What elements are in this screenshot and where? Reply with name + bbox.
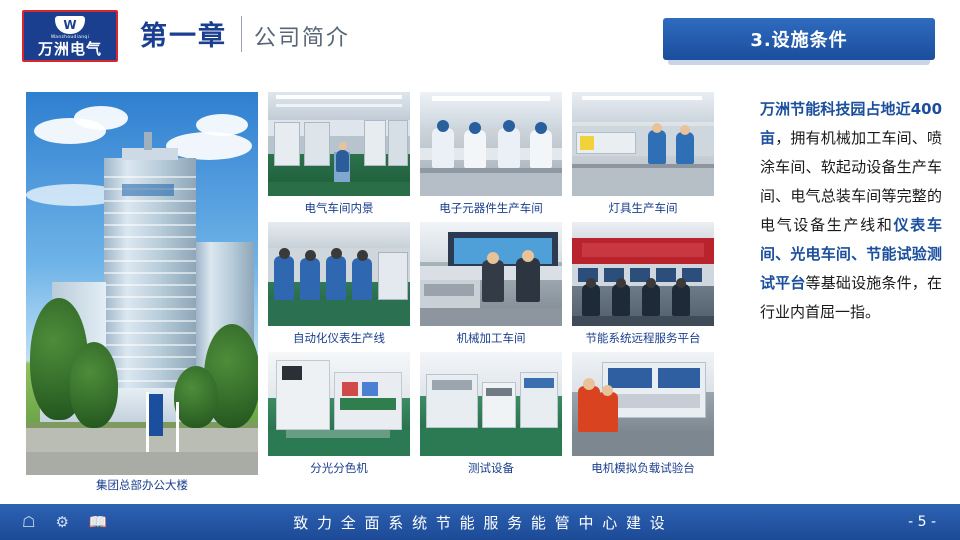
lamp-production-illustration (572, 92, 714, 196)
caption-machining-workshop: 机械加工车间 (420, 330, 562, 346)
photo-electrical-workshop-interior (268, 92, 410, 196)
logo-brand-text: 万洲电气 (38, 42, 102, 57)
color-sorting-machine-illustration (268, 352, 410, 456)
photo-color-sorting-machine (268, 352, 410, 456)
photo-automatic-meter-line (268, 222, 410, 326)
section-tab[interactable]: 3.设施条件 (663, 18, 935, 60)
logo-pinyin: Wanzhoudianqi (51, 35, 89, 40)
caption-energy-saving-remote-service-platform: 节能系统远程服务平台 (572, 330, 714, 346)
photo-machining-workshop (420, 222, 562, 326)
header-divider (241, 16, 242, 52)
chapter-subtitle: 公司简介 (254, 20, 350, 52)
section-tab-label: 3.设施条件 (750, 26, 847, 52)
caption-headquarters-building: 集团总部办公大楼 (26, 477, 258, 493)
automatic-meter-line-illustration (268, 222, 410, 326)
photo-testing-equipment (420, 352, 562, 456)
testing-equipment-illustration (420, 352, 562, 456)
logo-emblem-glyph: W (63, 19, 76, 31)
machining-workshop-illustration (420, 222, 562, 326)
photo-motor-simulated-load-test-bench (572, 352, 714, 456)
footer-slogan: 致 力 全 面 系 统 节 能 服 务 能 管 中 心 建 设 (0, 512, 960, 533)
caption-electrical-workshop-interior: 电气车间内景 (268, 200, 410, 216)
headquarters-building-illustration (26, 92, 258, 475)
electrical-workshop-illustration (268, 92, 410, 196)
photo-headquarters-building (26, 92, 258, 475)
company-logo: W Wanzhoudianqi 万洲电气 (22, 10, 118, 62)
photo-electronic-components-workshop (420, 92, 562, 196)
page-number: - 5 - (908, 514, 936, 530)
caption-motor-simulated-load-test-bench: 电机模拟负载试验台 (572, 460, 714, 476)
caption-testing-equipment: 测试设备 (420, 460, 562, 476)
photo-lamp-production-workshop (572, 92, 714, 196)
remote-service-platform-illustration (572, 222, 714, 326)
caption-electronic-components-workshop: 电子元器件生产车间 (420, 200, 562, 216)
caption-lamp-production-workshop: 灯具生产车间 (572, 200, 714, 216)
chapter-title: 第一章 (140, 14, 227, 53)
caption-color-sorting-machine: 分光分色机 (268, 460, 410, 476)
slide: W Wanzhoudianqi 万洲电气 第一章 公司简介 3.设施条件 (0, 0, 960, 540)
electronic-components-illustration (420, 92, 562, 196)
photo-energy-saving-remote-service-platform (572, 222, 714, 326)
footer-bar: ☖ ⚙ 📖 致 力 全 面 系 统 节 能 服 务 能 管 中 心 建 设 - … (0, 504, 960, 540)
section-tab-shadow (668, 60, 930, 65)
motor-load-test-bench-illustration (572, 352, 714, 456)
caption-automatic-meter-line: 自动化仪表生产线 (268, 330, 410, 346)
body-paragraph: 万洲节能科技园占地近400亩，拥有机械加工车间、喷涂车间、软起动设备生产车间、电… (760, 95, 942, 327)
logo-emblem-icon: W (55, 16, 85, 34)
